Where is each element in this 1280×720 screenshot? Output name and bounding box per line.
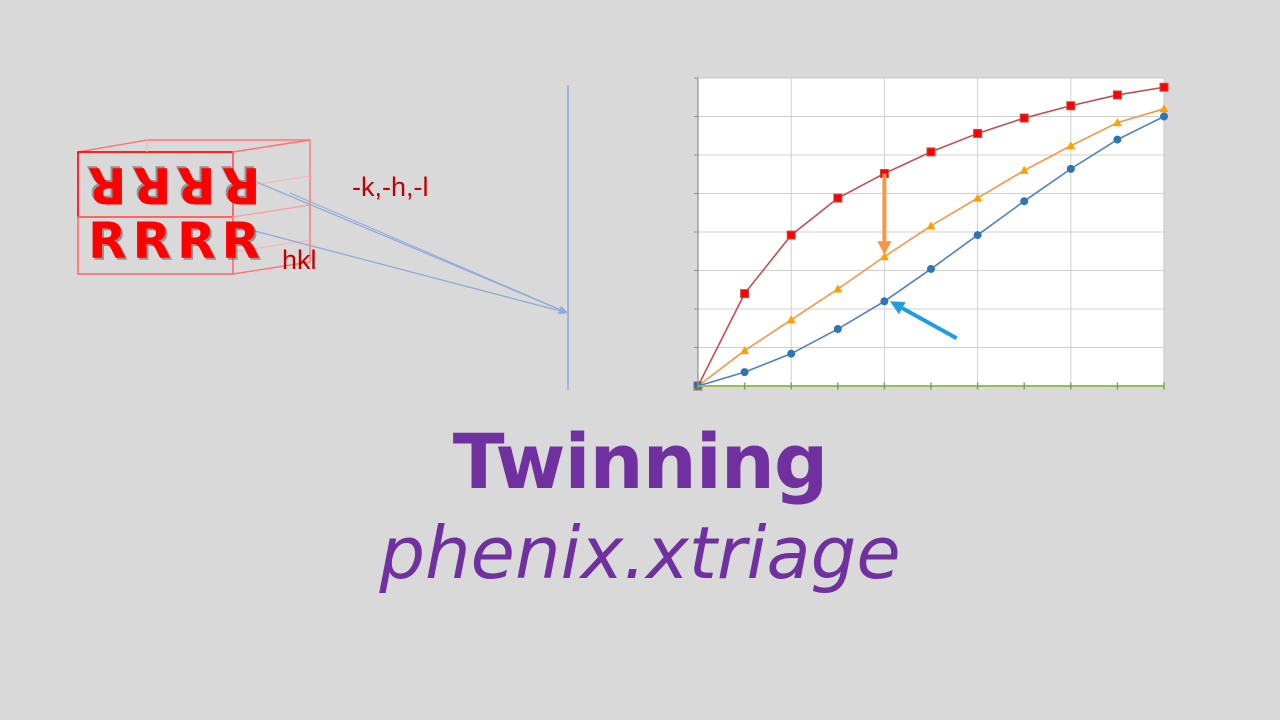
slide-canvas: R R R R R R R R -k,-h,-l hkl Twinning ph… <box>0 0 1280 720</box>
diagram-vector-layer <box>0 0 620 420</box>
chart-marker-circle <box>834 325 842 333</box>
title-block: Twinning phenix.xtriage <box>0 424 1280 592</box>
chart-marker-circle <box>927 265 935 273</box>
chart-marker-circle <box>1113 136 1121 144</box>
chart-marker-square <box>1067 102 1075 110</box>
chart-marker-circle <box>974 231 982 239</box>
chart-marker-square <box>1020 114 1028 122</box>
page-title: Twinning <box>0 424 1280 500</box>
chart-marker-square <box>834 194 842 202</box>
chart-marker-square <box>974 129 982 137</box>
chart-marker-square <box>927 148 935 156</box>
twin-operator-label: -k,-h,-l <box>352 172 429 203</box>
chart-marker-square <box>1160 83 1168 91</box>
box-front-lower <box>78 217 233 274</box>
chart-marker-circle <box>880 297 888 305</box>
box-front-upper <box>78 152 233 217</box>
box-side-divider <box>233 205 310 217</box>
chart-marker-circle <box>787 350 795 358</box>
twin-lattice-diagram: R R R R R R R R -k,-h,-l hkl <box>0 0 620 420</box>
beam-ray-extra-1 <box>290 193 568 313</box>
page-subtitle: phenix.xtriage <box>0 516 1280 592</box>
chart-marker-circle <box>1067 165 1075 173</box>
chart-marker-circle <box>1160 113 1168 121</box>
chart-marker-circle <box>1020 197 1028 205</box>
chart-marker-square <box>741 290 749 298</box>
cumulative-intensity-chart <box>690 70 1170 400</box>
hkl-label: hkl <box>282 245 317 276</box>
box-side-faint-1 <box>233 176 310 188</box>
chart-marker-circle <box>741 368 749 376</box>
lattice-box-shape <box>78 140 310 274</box>
chart-marker-square <box>1113 91 1121 99</box>
chart-marker-square <box>787 231 795 239</box>
chart-vector-layer <box>690 70 1170 400</box>
